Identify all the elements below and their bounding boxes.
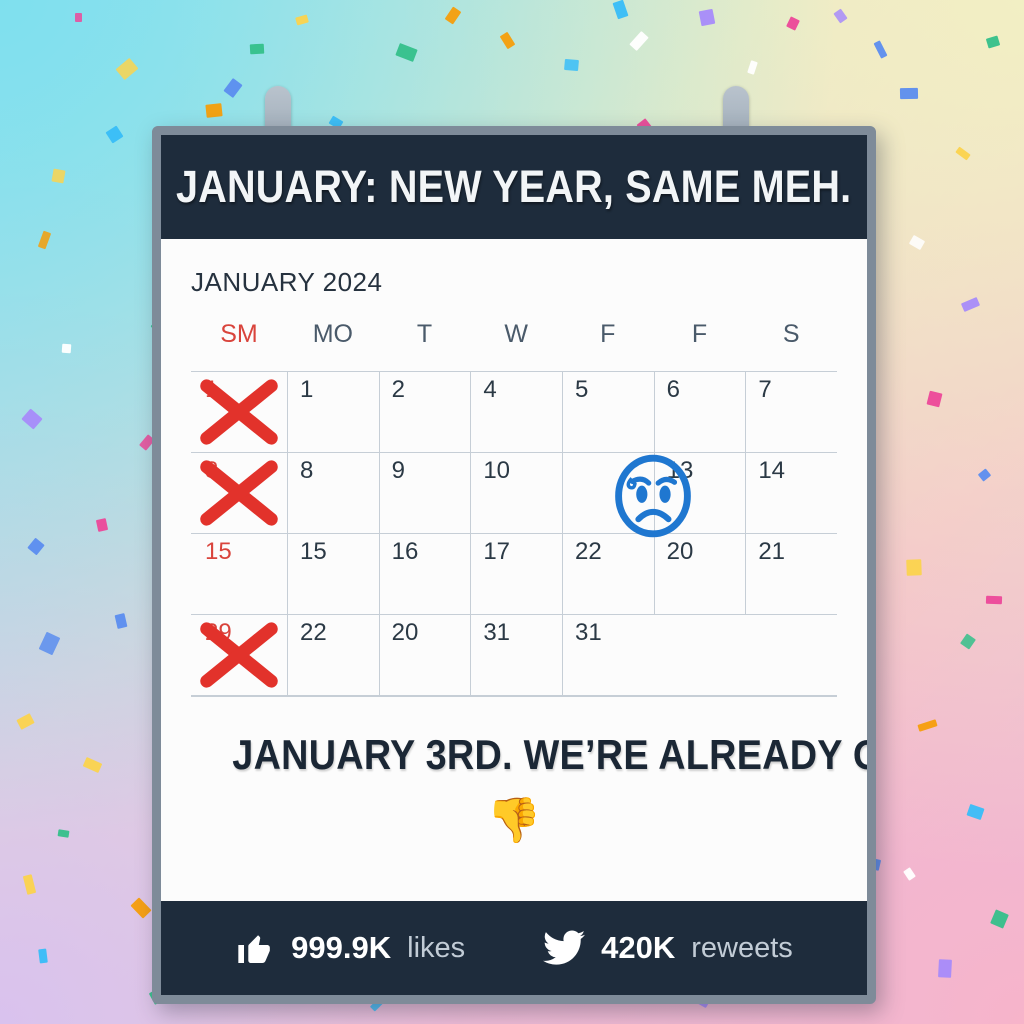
confetti-piece: [900, 88, 918, 99]
retweets-stat[interactable]: 420K reweets: [543, 930, 793, 966]
calendar-week-row: 889101314: [191, 453, 837, 534]
confetti-piece: [903, 867, 916, 881]
calendar-day-cell[interactable]: 16: [379, 534, 471, 614]
confetti-piece: [564, 59, 579, 71]
day-number: 15: [300, 538, 327, 565]
calendar-day-cell[interactable]: 6: [654, 372, 746, 452]
calendar-day-cell[interactable]: 22: [287, 615, 379, 695]
calendar-day-cell[interactable]: 4: [470, 372, 562, 452]
confetti-piece: [978, 468, 991, 481]
day-number: 2: [392, 376, 405, 403]
confetti-piece: [747, 60, 758, 75]
calendar-day-cell[interactable]: 29: [191, 615, 287, 695]
confetti-piece: [38, 949, 48, 964]
retweets-label: reweets: [691, 932, 793, 965]
day-number: 8: [300, 457, 313, 484]
day-number: 29: [205, 619, 232, 646]
confetti-piece: [874, 40, 888, 58]
dow-t-2: T: [379, 320, 471, 349]
confetti-piece: [909, 235, 925, 250]
day-number: 4: [483, 376, 496, 403]
confetti-piece: [62, 344, 72, 354]
day-number: 1: [300, 376, 313, 403]
day-number: 20: [667, 538, 694, 565]
confetti-piece: [966, 804, 984, 820]
confetti-piece: [83, 757, 103, 773]
confetti-piece: [938, 959, 952, 978]
dow-sm-0: SM: [191, 320, 287, 349]
confetti-piece: [51, 169, 65, 184]
engagement-footer: 999.9K likes 420K reweets: [161, 901, 867, 995]
month-year-label: JANUARY 2024: [191, 267, 837, 298]
calendar-widget: JANUARY: NEW YEAR, SAME MEH. JANUARY 202…: [152, 126, 876, 1004]
calendar-day-cell[interactable]: 15: [287, 534, 379, 614]
day-number: 31: [575, 619, 602, 646]
confetti-piece: [205, 103, 222, 118]
banner-title: JANUARY: NEW YEAR, SAME MEH.: [176, 161, 851, 213]
day-number: 14: [758, 457, 785, 484]
confetti-piece: [96, 518, 108, 532]
dow-f-5: F: [654, 320, 746, 349]
day-number: 16: [392, 538, 419, 565]
day-number: 20: [392, 619, 419, 646]
day-number: 31: [483, 619, 510, 646]
calendar-day-cell[interactable]: 31: [470, 615, 562, 695]
confetti-piece: [16, 713, 34, 730]
confetti-piece: [295, 15, 309, 26]
confetti-piece: [699, 9, 716, 26]
confetti-piece: [58, 829, 70, 838]
likes-stat[interactable]: 999.9K likes: [235, 928, 465, 968]
calendar-day-cell[interactable]: 21: [745, 534, 837, 614]
confetti-piece: [926, 391, 942, 408]
confetti-piece: [990, 909, 1009, 928]
day-number: 10: [483, 457, 510, 484]
confetti-piece: [75, 13, 82, 22]
calendar-day-cell[interactable]: 5: [562, 372, 654, 452]
calendar-day-cell[interactable]: [745, 615, 837, 695]
day-of-week-header: SMMOTWFFS: [191, 320, 837, 349]
calendar-day-cell[interactable]: 8: [191, 453, 287, 533]
confetti-piece: [27, 538, 45, 556]
confetti-piece: [23, 874, 36, 895]
day-number: 1: [205, 376, 218, 403]
confetti-piece: [833, 9, 847, 24]
day-number: 15: [205, 538, 232, 565]
confetti-piece: [395, 43, 417, 62]
calendar-week-row: 2922203131: [191, 615, 837, 696]
day-number: 9: [392, 457, 405, 484]
confetti-piece: [906, 559, 922, 576]
thumbs-down-emoji: 👎: [201, 799, 827, 843]
confetti-piece: [115, 613, 128, 629]
dow-s-6: S: [745, 320, 837, 349]
calendar-day-cell[interactable]: [562, 453, 654, 533]
confetti-piece: [106, 126, 124, 144]
calendar-day-cell[interactable]: 1: [287, 372, 379, 452]
calendar-day-cell[interactable]: [654, 615, 746, 695]
calendar-day-cell[interactable]: 7: [745, 372, 837, 452]
confetti-piece: [500, 32, 516, 49]
confetti-piece: [116, 58, 139, 80]
confetti-piece: [130, 897, 151, 918]
likes-count: 999.9K: [291, 930, 391, 966]
calendar-day-cell[interactable]: 31: [562, 615, 654, 695]
calendar-day-cell[interactable]: 22: [562, 534, 654, 614]
calendar-day-cell[interactable]: 1: [191, 372, 287, 452]
day-number: 13: [667, 457, 694, 484]
dow-f-4: F: [562, 320, 654, 349]
calendar-day-cell[interactable]: 10: [470, 453, 562, 533]
calendar-day-cell[interactable]: 20: [379, 615, 471, 695]
confetti-piece: [786, 16, 800, 30]
day-number: 5: [575, 376, 588, 403]
day-number: 22: [300, 619, 327, 646]
confetti-piece: [955, 147, 970, 161]
confetti-piece: [960, 633, 976, 649]
confetti-piece: [38, 231, 51, 250]
calendar-day-cell[interactable]: 17: [470, 534, 562, 614]
day-number: 7: [758, 376, 771, 403]
retweets-count: 420K: [601, 930, 675, 966]
likes-label: likes: [407, 932, 465, 965]
confetti-piece: [629, 31, 648, 51]
poster-background: JANUARY: NEW YEAR, SAME MEH. JANUARY 202…: [0, 0, 1024, 1024]
calendar-week-row: 15151617222021: [191, 534, 837, 615]
day-number: 22: [575, 538, 602, 565]
confetti-piece: [986, 596, 1002, 605]
confetti-piece: [917, 719, 937, 732]
confetti-piece: [39, 632, 61, 656]
calendar-week-row: 1124567: [191, 372, 837, 453]
day-number: 8: [205, 457, 218, 484]
dow-mo-1: MO: [287, 320, 379, 349]
calendar-day-cell[interactable]: 15: [191, 534, 287, 614]
calendar-day-cell[interactable]: 9: [379, 453, 471, 533]
confetti-piece: [961, 297, 980, 312]
confetti-piece: [21, 408, 42, 429]
caption-area: JANUARY 3RD. WE’RE ALREADY OVER IT 👎: [191, 697, 837, 901]
day-number: 6: [667, 376, 680, 403]
calendar-day-cell[interactable]: 8: [287, 453, 379, 533]
confetti-piece: [445, 6, 462, 24]
calendar-day-cell[interactable]: 20: [654, 534, 746, 614]
calendar-day-cell[interactable]: 2: [379, 372, 471, 452]
calendar-card: JANUARY: NEW YEAR, SAME MEH. JANUARY 202…: [152, 126, 876, 1004]
confetti-piece: [223, 78, 242, 98]
confetti-piece: [250, 44, 265, 55]
twitter-bird-icon: [543, 930, 585, 966]
day-number: 21: [758, 538, 785, 565]
calendar-day-cell[interactable]: 13: [654, 453, 746, 533]
thumbs-up-icon: [235, 928, 275, 968]
calendar-sheet: JANUARY 2024 SMMOTWFFS 11245678891013141…: [161, 239, 867, 901]
confetti-piece: [986, 35, 1000, 48]
calendar-day-cell[interactable]: 14: [745, 453, 837, 533]
calendar-grid: 1124567889101314151516172220212922203131: [191, 371, 837, 697]
caption-text: JANUARY 3RD. WE’RE ALREADY OVER IT: [232, 731, 795, 779]
calendar-banner: JANUARY: NEW YEAR, SAME MEH.: [161, 135, 867, 239]
confetti-piece: [613, 0, 629, 19]
day-number: 17: [483, 538, 510, 565]
dow-w-3: W: [470, 320, 562, 349]
